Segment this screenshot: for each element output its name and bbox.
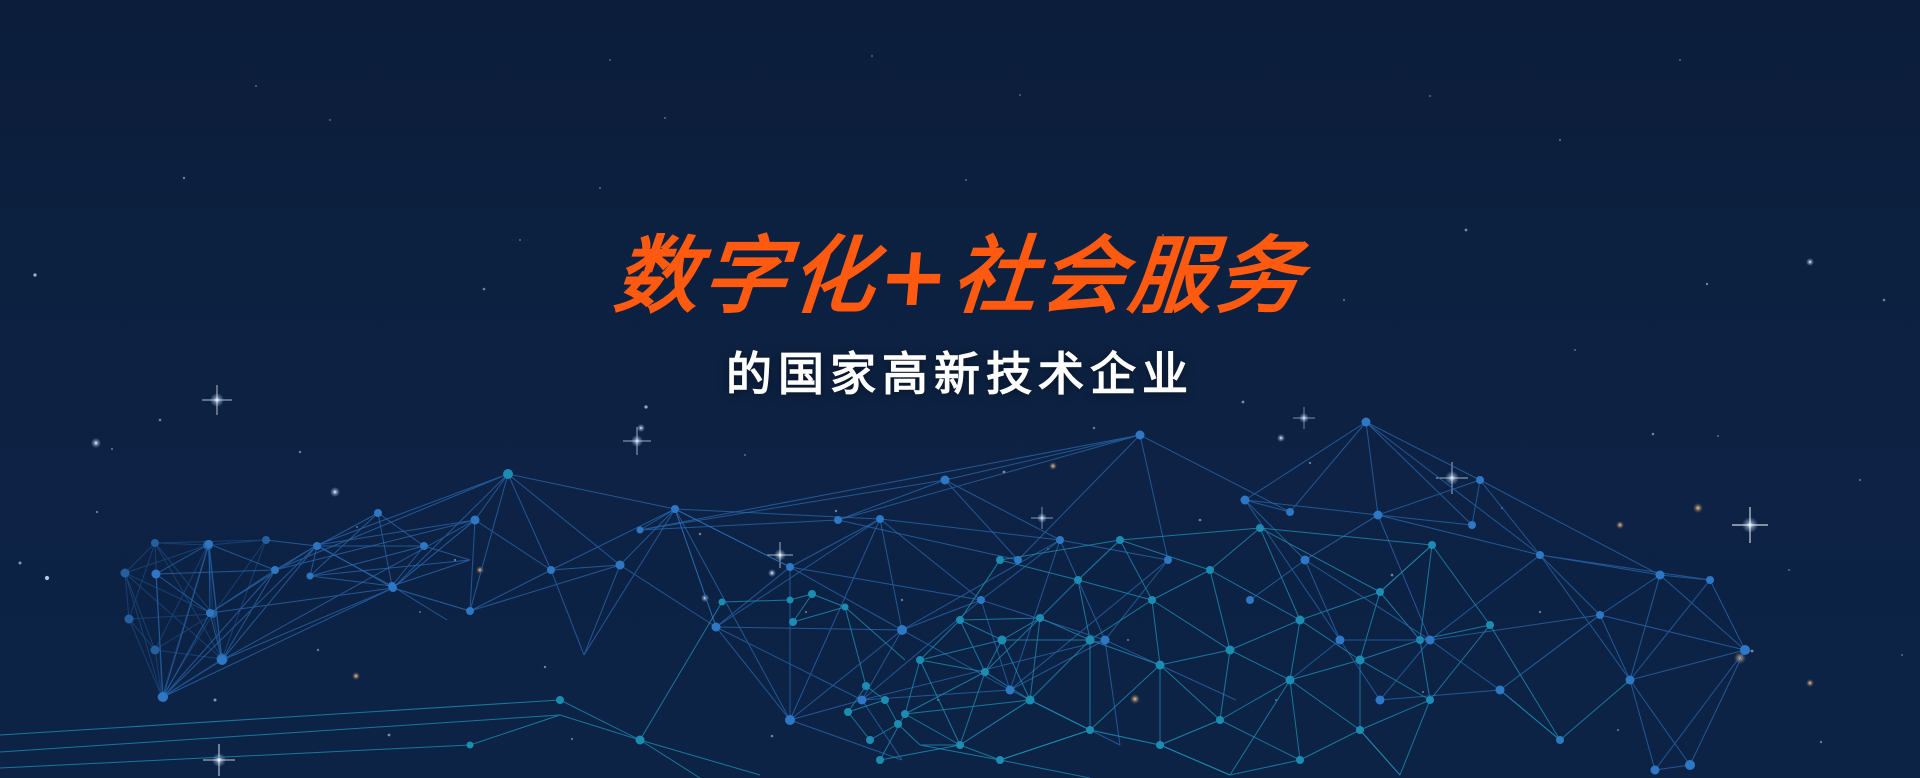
polygon-network-mesh: .ln { stroke:#2b6cb5; stroke-width:1; fi… <box>0 0 1920 778</box>
hero-banner: .ln { stroke:#2b6cb5; stroke-width:1; fi… <box>0 0 1920 778</box>
